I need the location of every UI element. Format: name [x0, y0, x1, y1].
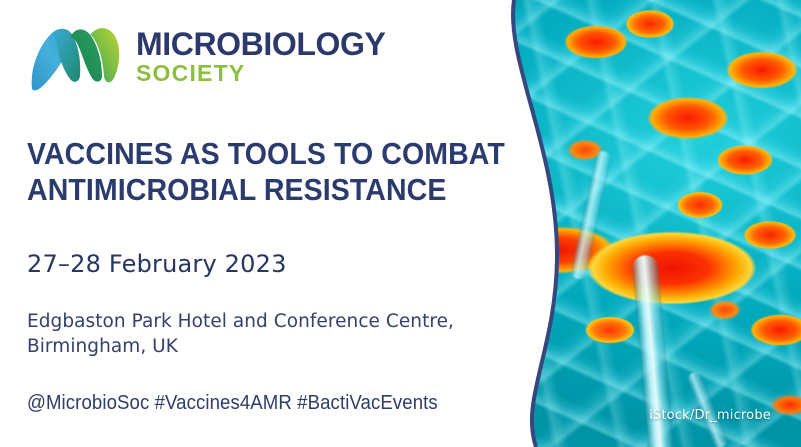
microbiology-society-logo[interactable]: MICROBIOLOGY SOCIETY: [26, 18, 385, 92]
logo-wordmark: MICROBIOLOGY SOCIETY: [136, 26, 385, 84]
headline-line-2: ANTIMICROBIAL RESISTANCE: [27, 172, 432, 208]
venue-line-1: Edgbaston Park Hotel and Conference Cent…: [27, 309, 454, 334]
image-credit: iStock/Dr_microbe: [649, 408, 771, 423]
poster-content: MICROBIOLOGY SOCIETY VACCINES AS TOOLS T…: [0, 0, 500, 447]
social-handles: @MicrobioSoc #Vaccines4AMR #BactiVacEven…: [27, 392, 438, 415]
event-poster: iStock/Dr_microbe: [0, 0, 801, 447]
headline-line-1: VACCINES AS TOOLS TO COMBAT: [27, 136, 432, 172]
m-ribbon-icon: [26, 18, 122, 92]
logo-word-society: SOCIETY: [136, 63, 385, 84]
event-headline: VACCINES AS TOOLS TO COMBAT ANTIMICROBIA…: [27, 136, 432, 208]
event-venue: Edgbaston Park Hotel and Conference Cent…: [27, 309, 454, 360]
logo-word-microbiology: MICROBIOLOGY: [136, 30, 385, 59]
event-date: 27–28 February 2023: [27, 250, 287, 278]
venue-line-2: Birmingham, UK: [27, 334, 454, 359]
